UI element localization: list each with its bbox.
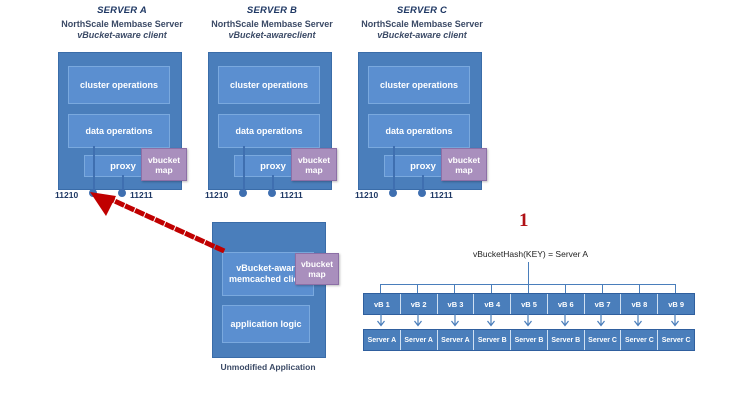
server-c-port-left-stem [393, 146, 395, 190]
server-c-port-right-stem [422, 175, 424, 190]
vbucket-hash-label: vBucketHash(KEY) = Server A [473, 249, 588, 259]
server-b-port-right-label: 11211 [280, 190, 303, 200]
bracket-tick-1 [380, 284, 381, 293]
vbucket-cell[interactable]: vB 8 [621, 294, 658, 314]
server-mapping-cell[interactable]: Server A [438, 330, 475, 350]
server-a-data-operations[interactable]: data operations [68, 114, 170, 148]
bracket-tick-2 [417, 284, 418, 293]
server-c-subtitle: NorthScale Membase Server vBucket-aware … [342, 19, 502, 41]
server-b-title: SERVER B [202, 5, 342, 16]
server-mapping-cell[interactable]: Server A [364, 330, 401, 350]
server-b-port-left-dot[interactable] [239, 189, 247, 197]
server-mapping-cell[interactable]: Server C [585, 330, 622, 350]
mapping-arrows-icon [363, 313, 693, 329]
bracket-tick-8 [639, 284, 640, 293]
vbucket-cell[interactable]: vB 1 [364, 294, 401, 314]
vbucket-cell[interactable]: vB 3 [438, 294, 475, 314]
step-number-1: 1 [519, 210, 529, 232]
server-c-subtitle-line2: vBucket-aware client [342, 30, 502, 41]
vbucket-cell[interactable]: vB 6 [548, 294, 585, 314]
server-mapping-cell[interactable]: Server C [658, 330, 694, 350]
bracket-tick-9 [675, 284, 676, 293]
server-b-port-right-dot[interactable] [268, 189, 276, 197]
bracket-tick-7 [602, 284, 603, 293]
server-c-cluster-operations[interactable]: cluster operations [368, 66, 470, 104]
application-logic[interactable]: application logic [222, 305, 310, 343]
bracket-tick-6 [565, 284, 566, 293]
application-caption: Unmodified Application [192, 362, 344, 372]
server-a-vbucket-map[interactable]: vbucket map [141, 148, 187, 181]
vbucket-cell[interactable]: vB 4 [474, 294, 511, 314]
vbucket-cell[interactable]: vB 5 [511, 294, 548, 314]
server-c-vbucket-map[interactable]: vbucket map [441, 148, 487, 181]
server-mapping-cell[interactable]: Server B [511, 330, 548, 350]
vbucket-cell[interactable]: vB 9 [658, 294, 694, 314]
server-a-cluster-operations[interactable]: cluster operations [68, 66, 170, 104]
server-c-port-left-label: 11210 [355, 190, 378, 200]
server-c-subtitle-line1: NorthScale Membase Server [361, 19, 483, 29]
bracket-tick-5 [528, 284, 529, 293]
server-a-subtitle-line1: NorthScale Membase Server [61, 19, 183, 29]
request-flow-arrow-icon [80, 186, 230, 258]
vbucket-cell[interactable]: vB 2 [401, 294, 438, 314]
server-mapping-cell[interactable]: Server A [401, 330, 438, 350]
server-a-port-left-label: 11210 [55, 190, 78, 200]
server-b-subtitle: NorthScale Membase Server vBucket-awarec… [192, 19, 352, 41]
server-mapping-cell[interactable]: Server B [548, 330, 585, 350]
server-b-data-operations[interactable]: data operations [218, 114, 320, 148]
server-c-title: SERVER C [352, 5, 492, 16]
server-b-port-right-stem [272, 175, 274, 190]
vbucket-cell[interactable]: vB 7 [585, 294, 622, 314]
application-vbucket-map[interactable]: vbucket map [295, 253, 339, 285]
server-mapping-cell[interactable]: Server C [621, 330, 658, 350]
vbucket-row: vB 1 vB 2 vB 3 vB 4 vB 5 vB 6 vB 7 vB 8 … [363, 293, 695, 315]
server-a-port-left-stem [93, 146, 95, 190]
server-c-port-right-dot[interactable] [418, 189, 426, 197]
hash-pointer-line [528, 262, 529, 284]
server-c-data-operations[interactable]: data operations [368, 114, 470, 148]
server-a-subtitle-line2: vBucket-aware client [42, 30, 202, 41]
server-mapping-cell[interactable]: Server B [474, 330, 511, 350]
server-mapping-row: Server A Server A Server A Server B Serv… [363, 329, 695, 351]
server-c-port-left-dot[interactable] [389, 189, 397, 197]
bracket-tick-3 [454, 284, 455, 293]
server-b-vbucket-map[interactable]: vbucket map [291, 148, 337, 181]
bracket-tick-4 [491, 284, 492, 293]
server-b-subtitle-line2: vBucket-awareclient [192, 30, 352, 41]
server-b-subtitle-line1: NorthScale Membase Server [211, 19, 333, 29]
server-a-title: SERVER A [52, 5, 192, 16]
server-b-cluster-operations[interactable]: cluster operations [218, 66, 320, 104]
server-b-port-left-stem [243, 146, 245, 190]
server-c-port-right-label: 11211 [430, 190, 453, 200]
server-a-subtitle: NorthScale Membase Server vBucket-aware … [42, 19, 202, 41]
